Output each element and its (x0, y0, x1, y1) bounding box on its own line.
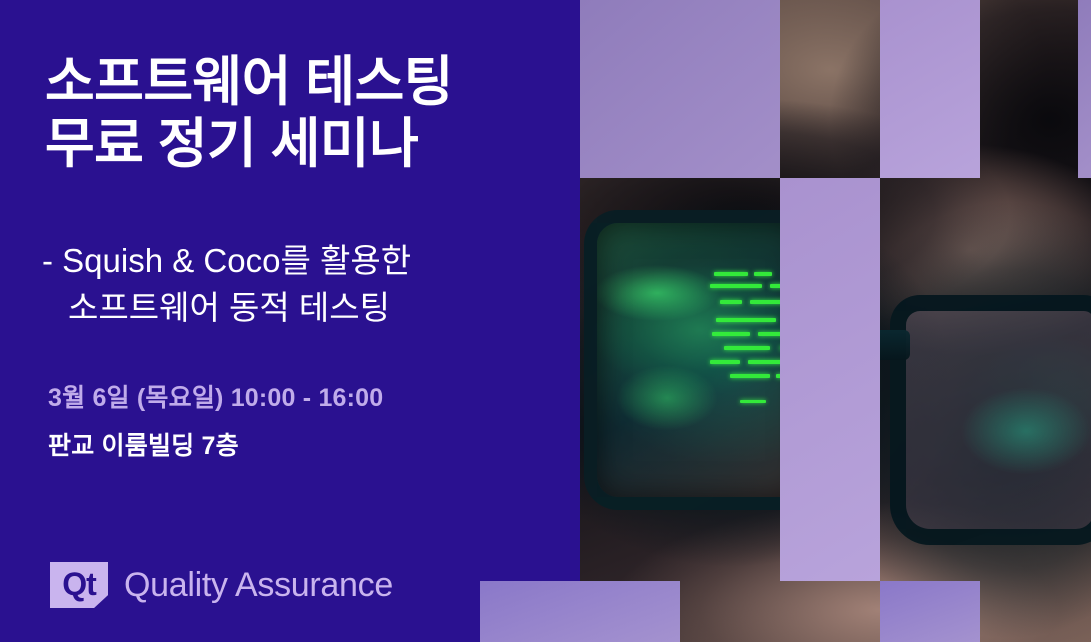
tile-top-left (580, 0, 780, 178)
tile-bottom-left (480, 581, 680, 642)
tile-top-right (1078, 0, 1091, 178)
text-panel: 소프트웨어 테스팅 무료 정기 세미나 - Squish & Coco를 활용한… (0, 0, 580, 642)
headline-line-2: 무료 정기 세미나 (45, 114, 565, 176)
event-datetime: 3월 6일 (목요일) 10:00 - 16:00 (48, 378, 383, 414)
right-lens (890, 295, 1091, 545)
tile-bottom-mid (880, 581, 980, 642)
qt-wordmark: Quality Assurance (124, 566, 393, 605)
headline-line-1: 소프트웨어 테스팅 (45, 52, 565, 114)
qt-logo: Qt Quality Assurance (50, 562, 393, 608)
subtitle-line-1: - Squish & Coco를 활용한 (42, 238, 562, 285)
photo-collage (580, 0, 1091, 642)
seminar-poster: 소프트웨어 테스팅 무료 정기 세미나 - Squish & Coco를 활용한… (0, 0, 1091, 642)
subtitle-line-2: 소프트웨어 동적 테스팅 (42, 285, 562, 332)
page-title: 소프트웨어 테스팅 무료 정기 세미나 (45, 52, 565, 175)
tile-top-mid (880, 0, 980, 178)
event-location: 판교 이룸빌딩 7층 (48, 426, 239, 462)
subtitle: - Squish & Coco를 활용한 소프트웨어 동적 테스팅 (42, 238, 562, 332)
qt-badge-icon: Qt (50, 562, 108, 608)
tile-mid-center (780, 178, 880, 581)
